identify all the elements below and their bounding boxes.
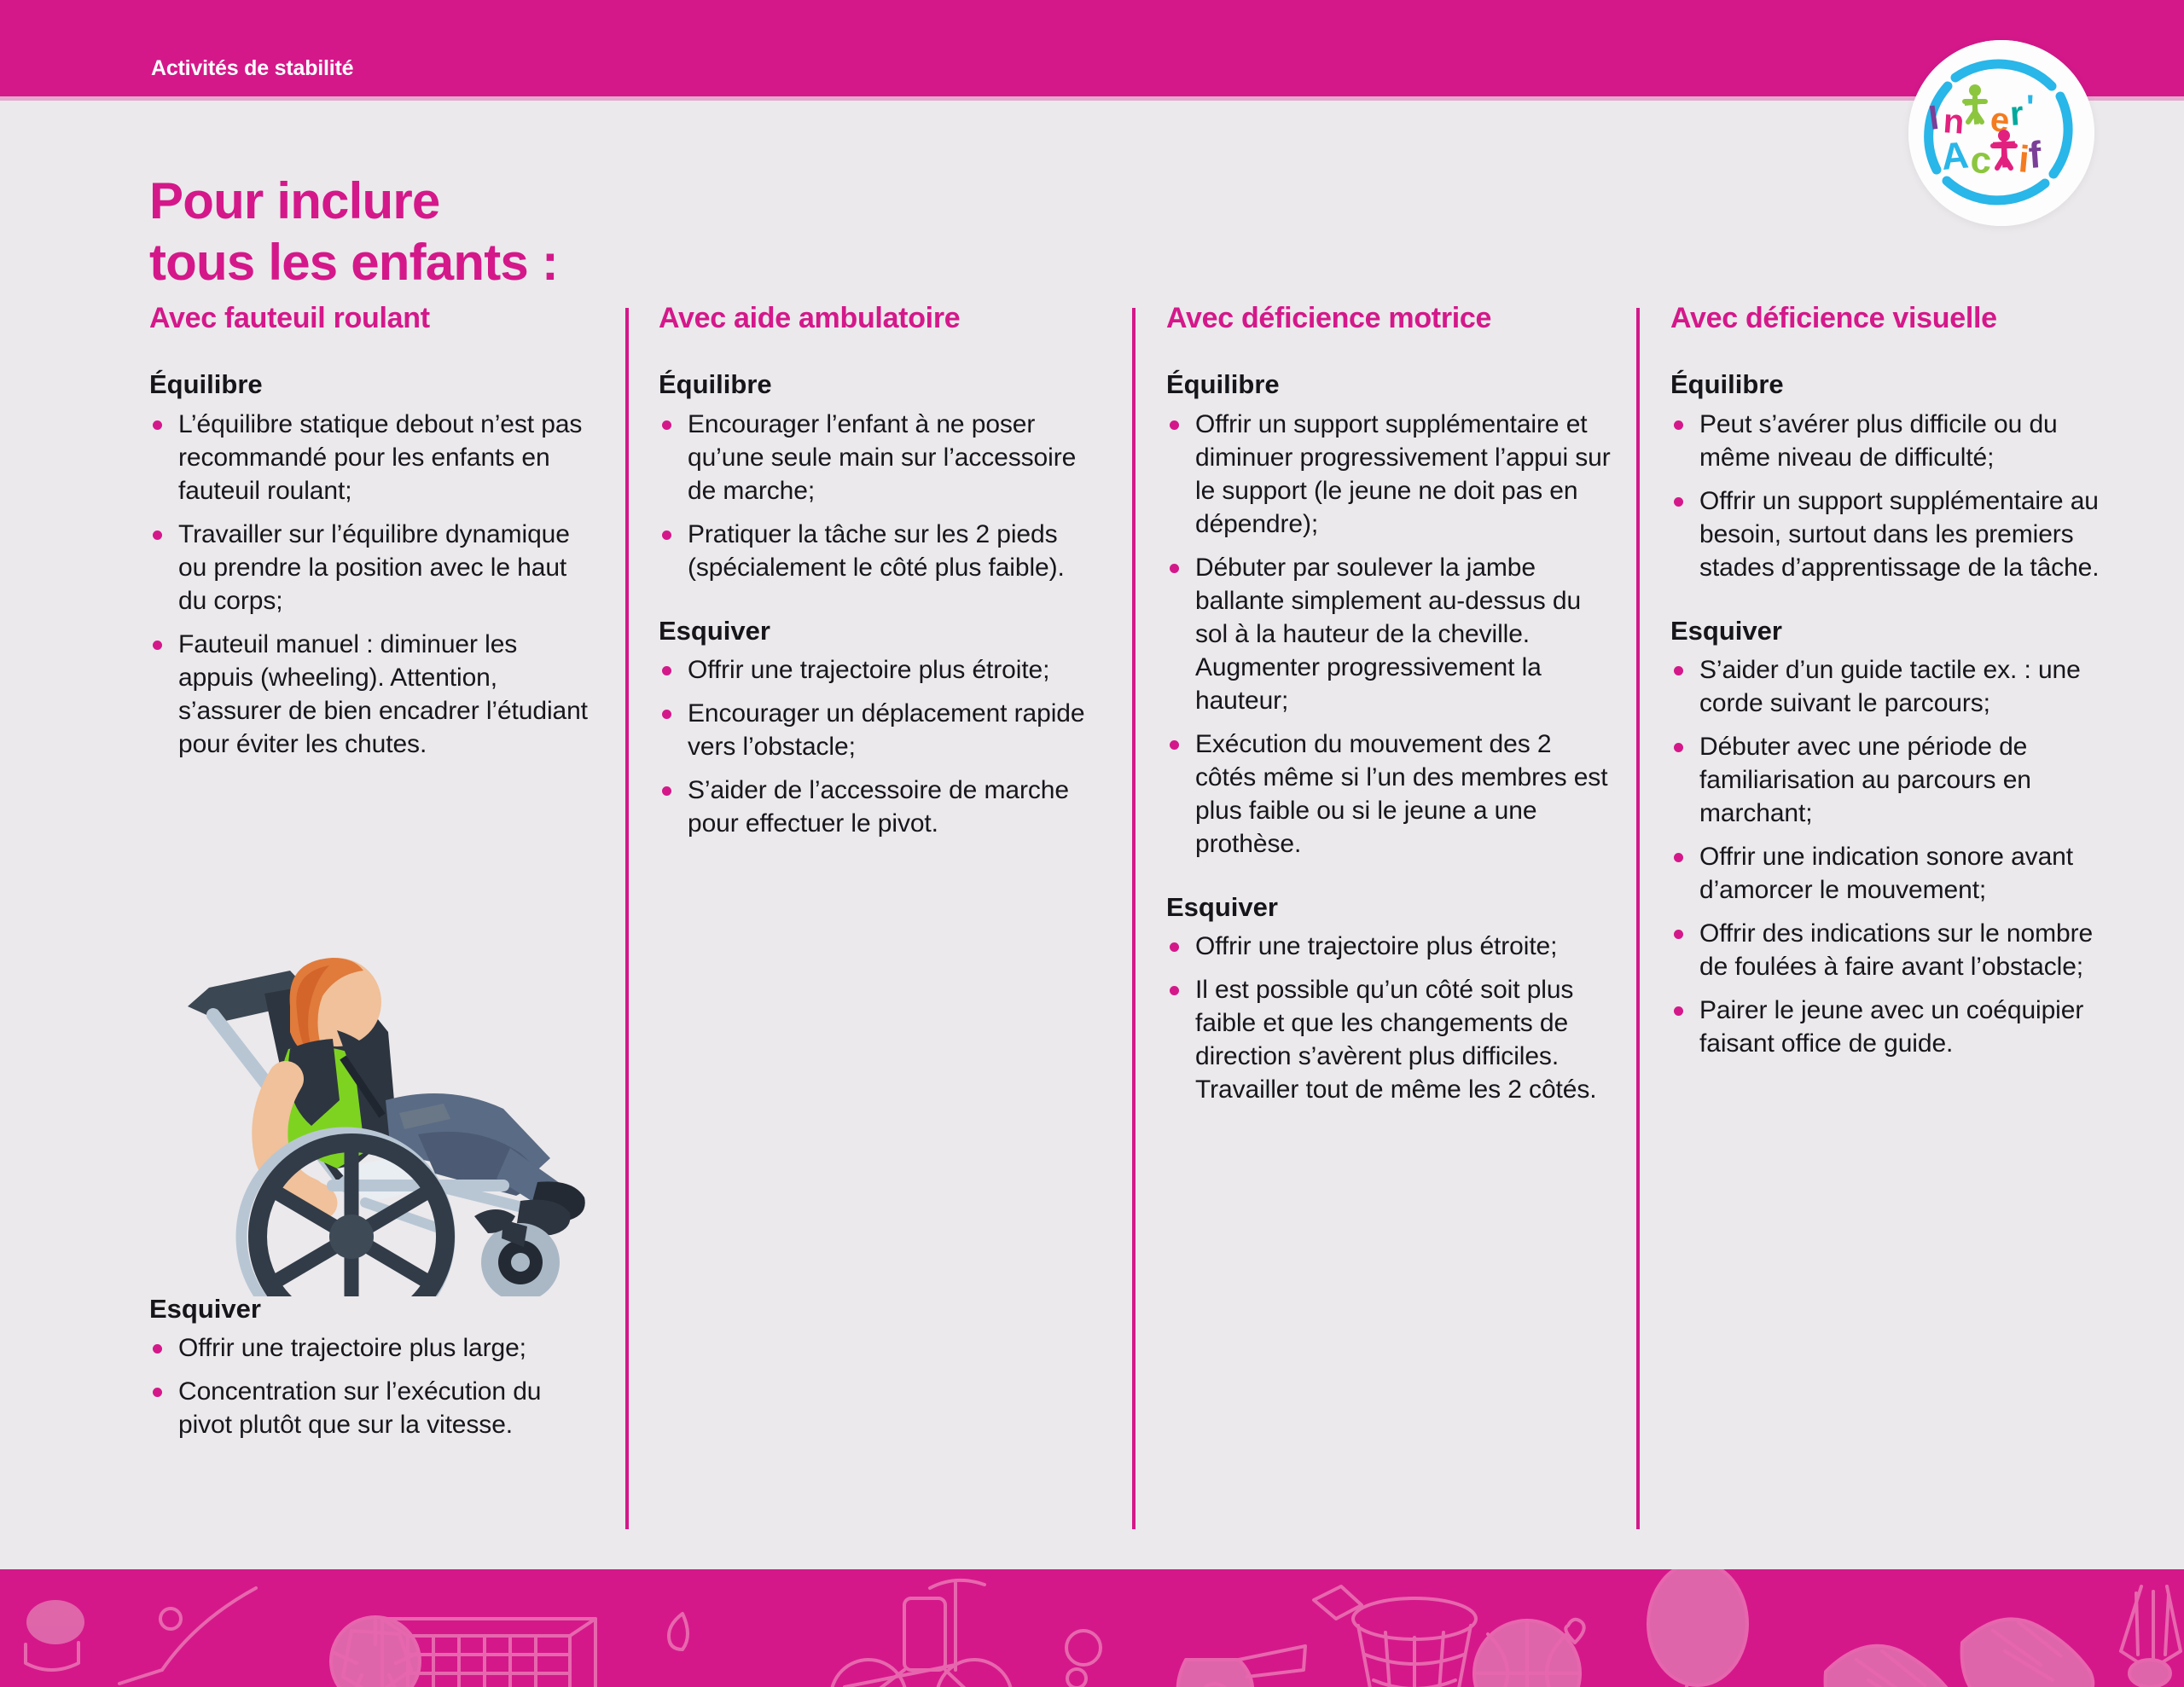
list-item: Offrir une trajectoire plus large; — [149, 1331, 593, 1365]
top-bar — [0, 0, 2184, 96]
bullet-list-equilibre: Peut s’avérer plus difficile ou du même … — [1670, 408, 2114, 584]
footer-pattern-banner — [0, 1569, 2184, 1687]
column-avec-deficience-motrice: Avec déficience motrice Équilibre Offrir… — [1166, 303, 1618, 1106]
list-item: S’aider de l’accessoire de marche pour e… — [659, 774, 1102, 840]
column-title: Avec fauteuil roulant — [149, 303, 593, 334]
section-heading-esquiver: Esquiver — [1166, 891, 1618, 923]
list-item: Exécution du mouvement des 2 côtés même … — [1166, 728, 1618, 861]
list-item: Fauteuil manuel : diminuer les appuis (w… — [149, 628, 593, 761]
svg-text:': ' — [2026, 89, 2035, 126]
bullet-list-esquiver: Offrir une trajectoire plus étroite; Enc… — [659, 653, 1102, 840]
list-item: S’aider d’un guide tactile ex. : une cor… — [1670, 653, 2114, 720]
bullet-list-esquiver: Offrir une trajectoire plus large; Conce… — [149, 1331, 593, 1441]
page-title: Pour inclure tous les enfants : — [149, 171, 558, 293]
column-avec-fauteuil-roulant: Avec fauteuil roulant Équilibre L’équili… — [149, 303, 593, 761]
list-item: Pairer le jeune avec un coéquipier faisa… — [1670, 994, 2114, 1060]
column-title: Avec déficience visuelle — [1670, 303, 2114, 334]
svg-text:r: r — [2009, 95, 2025, 133]
list-item: Encourager l’enfant à ne poser qu’une se… — [659, 408, 1102, 507]
list-item: Offrir des indications sur le nombre de … — [1670, 917, 2114, 983]
svg-text:c: c — [1969, 139, 1992, 182]
column-divider-2 — [1132, 308, 1136, 1529]
column-1-esquiver-block: Esquiver Offrir une trajectoire plus lar… — [149, 1293, 593, 1441]
column-divider-1 — [625, 308, 629, 1529]
bullet-list-equilibre: L’équilibre statique debout n’est pas re… — [149, 408, 593, 761]
section-heading-equilibre: Équilibre — [1670, 368, 2114, 400]
list-item: Travailler sur l’équilibre dynamique ou … — [149, 518, 593, 617]
bullet-list-equilibre: Offrir un support supplémentaire et dimi… — [1166, 408, 1618, 861]
page-title-line-1: Pour inclure — [149, 171, 558, 232]
list-item: Offrir une trajectoire plus étroite; — [1166, 930, 1618, 963]
list-item: Offrir un support supplémentaire et dimi… — [1166, 408, 1618, 541]
section-heading-esquiver: Esquiver — [1670, 615, 2114, 646]
column-title: Avec aide ambulatoire — [659, 303, 1102, 334]
section-heading-esquiver: Esquiver — [149, 1293, 593, 1325]
list-item: Débuter par soulever la jambe ballante s… — [1166, 551, 1618, 717]
list-item: L’équilibre statique debout n’est pas re… — [149, 408, 593, 507]
list-item: Peut s’avérer plus difficile ou du même … — [1670, 408, 2114, 474]
list-item: Concentration sur l’exécution du pivot p… — [149, 1375, 593, 1441]
bullet-list-equilibre: Encourager l’enfant à ne poser qu’une se… — [659, 408, 1102, 584]
section-eyebrow-label: Activités de stabilité — [151, 56, 353, 81]
svg-text:A: A — [1940, 134, 1971, 178]
list-item: Il est possible qu’un côté soit plus fai… — [1166, 973, 1618, 1106]
inter-actif-logo: I n T e r ' A c T i f — [1908, 40, 2094, 226]
section-heading-equilibre: Équilibre — [659, 368, 1102, 400]
wheelchair-illustration — [162, 930, 606, 1296]
top-bar-underline — [0, 96, 2184, 101]
list-item: Offrir un support supplémentaire au beso… — [1670, 484, 2114, 584]
section-heading-esquiver: Esquiver — [659, 615, 1102, 646]
list-item: Offrir une trajectoire plus étroite; — [659, 653, 1102, 687]
bullet-list-esquiver: Offrir une trajectoire plus étroite; Il … — [1166, 930, 1618, 1106]
list-item: Offrir une indication sonore avant d’amo… — [1670, 840, 2114, 907]
list-item: Pratiquer la tâche sur les 2 pieds (spéc… — [659, 518, 1102, 584]
column-avec-deficience-visuelle: Avec déficience visuelle Équilibre Peut … — [1670, 303, 2114, 1060]
section-heading-equilibre: Équilibre — [1166, 368, 1618, 400]
column-divider-3 — [1636, 308, 1640, 1529]
page-title-line-2: tous les enfants : — [149, 232, 558, 293]
list-item: Débuter avec une période de familiarisat… — [1670, 730, 2114, 830]
list-item: Encourager un déplacement rapide vers l’… — [659, 697, 1102, 763]
bullet-list-esquiver: S’aider d’un guide tactile ex. : une cor… — [1670, 653, 2114, 1060]
column-title: Avec déficience motrice — [1166, 303, 1618, 334]
column-avec-aide-ambulatoire: Avec aide ambulatoire Équilibre Encourag… — [659, 303, 1102, 840]
section-heading-equilibre: Équilibre — [149, 368, 593, 400]
